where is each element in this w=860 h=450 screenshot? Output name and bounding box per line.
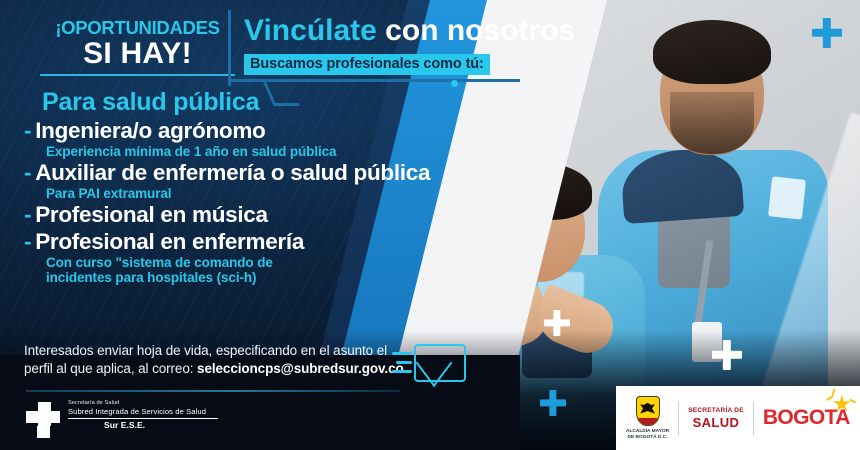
contact-email[interactable]: seleccioncps@subredsur.gov.co (197, 361, 404, 376)
bogota-coat-of-arms-icon (636, 396, 660, 426)
plus-icon-mid-left (544, 310, 570, 336)
job-title: Auxiliar de enfermería o salud pública (35, 160, 430, 185)
job-item: -Auxiliar de enfermería o salud pública … (24, 160, 504, 201)
job-title-row: -Ingeniera/o agrónomo (24, 118, 504, 144)
plus-icon-lower-left (540, 390, 566, 416)
content-column: ¡OPORTUNIDADES SI HAY! Vincúlate con nos… (0, 0, 520, 450)
cross-logo-icon (26, 402, 60, 436)
photo-man-beard (670, 92, 754, 154)
kicker-underline (40, 74, 235, 76)
job-dash: - (24, 118, 31, 143)
speech-bubble: Vincúlate con nosotros Buscamos profesio… (228, 6, 520, 92)
job-dash: - (24, 202, 31, 227)
eagle-icon (640, 403, 655, 416)
bubble-dot (451, 80, 458, 87)
kicker-block: ¡OPORTUNIDADES SI HAY! (40, 18, 235, 76)
subred-line-2: Subred Integrada de Servicios de Salud (68, 407, 218, 417)
headline-rest: con nosotros (377, 14, 575, 47)
subred-logo: Secretaría de Salud Subred Integrada de … (26, 398, 256, 442)
logo-divider (753, 401, 754, 435)
job-title: Profesional en música (35, 202, 268, 227)
job-note: Para PAI extramural (46, 186, 504, 201)
secretaria-line-2: SALUD (693, 415, 740, 430)
envelope-motion-line (392, 352, 412, 355)
contact-line-2: perfil al que aplica, al correo: selecci… (24, 360, 404, 378)
alcaldia-logo: ALCALDÍA MAYOR DE BOGOTÁ D.C. (626, 396, 669, 441)
headline: Vincúlate con nosotros (244, 14, 575, 48)
plus-icon-top-right (812, 18, 842, 48)
bogota-wordmark: BOGOTA (763, 406, 850, 430)
photo-man-badge (768, 176, 806, 219)
star-ray (849, 398, 856, 403)
shield-band (637, 418, 659, 425)
job-note: Con curso "sistema de comando de inciden… (46, 255, 504, 285)
secretaria-salud-logo: SECRETARÍA DE SALUD (688, 407, 744, 430)
envelope-icon (392, 340, 466, 388)
envelope-motion-line (392, 370, 412, 373)
alcaldia-line-2: DE BOGOTÁ D.C. (628, 435, 668, 441)
bubble-tail (262, 80, 300, 106)
job-list: -Ingeniera/o agrónomo Experiencia mínima… (24, 118, 504, 286)
bubble-left-edge (228, 10, 231, 86)
contact-line-1: Interesados enviar hoja de vida, especif… (24, 342, 404, 360)
headline-subtitle: Buscamos profesionales como tú: (244, 54, 490, 75)
headline-highlight: Vincúlate (244, 14, 377, 47)
subred-logo-text: Secretaría de Salud Subred Integrada de … (68, 400, 218, 431)
job-title-row: -Auxiliar de enfermería o salud pública (24, 160, 504, 186)
plus-icon-mid-right (712, 340, 742, 370)
job-title-row: -Profesional en música (24, 202, 504, 228)
section-title: Para salud pública (42, 88, 259, 117)
job-item: -Profesional en enfermería Con curso "si… (24, 229, 504, 285)
subred-line-3: Sur E.S.E. (104, 419, 218, 431)
bogota-logo: BOGOTA (763, 406, 850, 430)
logo-divider (678, 401, 679, 435)
bogota-word: BOGOTA (763, 406, 850, 430)
envelope-motion-line (396, 361, 412, 364)
kicker-line-1: ¡OPORTUNIDADES (40, 18, 235, 38)
secretaria-line-1: SECRETARÍA DE (688, 407, 744, 415)
contact-prefix: perfil al que aplica, al correo: (24, 361, 197, 376)
job-item: -Profesional en música (24, 202, 504, 228)
job-dash: - (24, 229, 31, 254)
contact-block: Interesados enviar hoja de vida, especif… (24, 342, 404, 377)
photo-man-hair (653, 20, 771, 84)
job-title: Profesional en enfermería (35, 229, 304, 254)
divider-rule (26, 390, 400, 392)
job-item: -Ingeniera/o agrónomo Experiencia mínima… (24, 118, 504, 159)
institutional-logo-bar: ALCALDÍA MAYOR DE BOGOTÁ D.C. SECRETARÍA… (616, 386, 860, 450)
job-note: Experiencia mínima de 1 año en salud púb… (46, 144, 504, 159)
subred-line-1: Secretaría de Salud (68, 400, 218, 407)
job-title-row: -Profesional en enfermería (24, 229, 504, 255)
star-ray (826, 395, 834, 401)
kicker-line-2: SI HAY! (40, 38, 235, 70)
job-title: Ingeniera/o agrónomo (35, 118, 265, 143)
job-dash: - (24, 160, 31, 185)
star-ray (831, 388, 835, 395)
recruitment-poster: ¡OPORTUNIDADES SI HAY! Vincúlate con nos… (0, 0, 860, 450)
